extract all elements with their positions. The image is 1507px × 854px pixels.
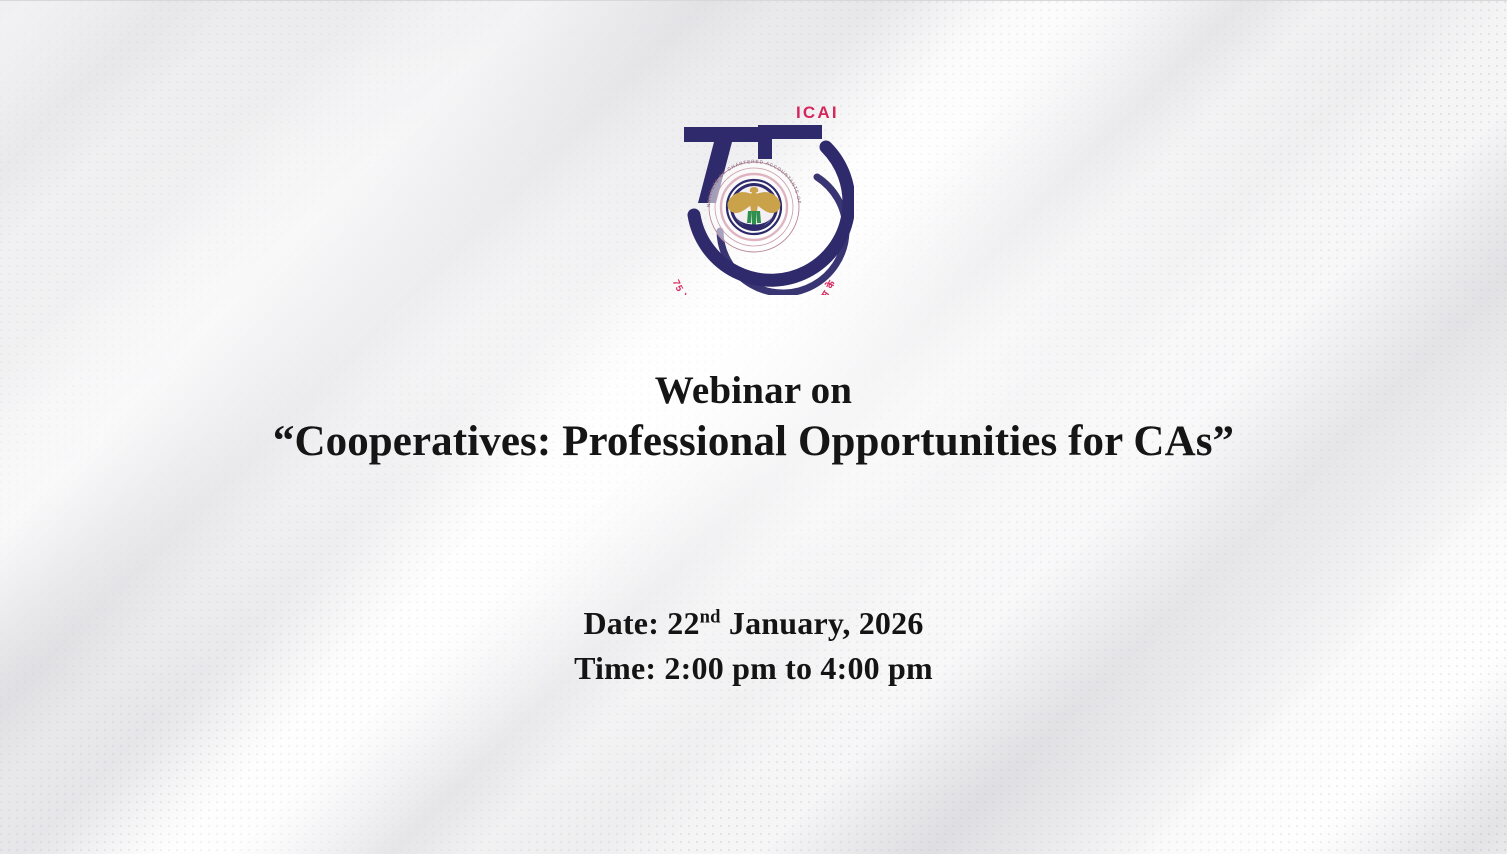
event-time: Time: 2:00 pm to 4:00 pm	[0, 646, 1507, 691]
event-date-ordinal: nd	[700, 606, 721, 627]
event-details-block: Date: 22nd January, 2026 Time: 2:00 pm t…	[0, 601, 1507, 692]
event-date: Date: 22nd January, 2026	[0, 601, 1507, 646]
title-block: Webinar on “Cooperatives: Professional O…	[0, 369, 1507, 467]
slide-content: ICAI THE INSTITUTE OF CHARTERED ACCOUNTA…	[0, 1, 1507, 854]
logo-acronym-text: ICAI	[796, 103, 839, 122]
event-date-label: Date:	[583, 605, 659, 641]
event-date-rest: January, 2026	[729, 605, 924, 641]
webinar-announcement-slide: ICAI THE INSTITUTE OF CHARTERED ACCOUNTA…	[0, 0, 1507, 854]
icai-75-years-logo-icon: ICAI THE INSTITUTE OF CHARTERED ACCOUNTA…	[654, 85, 854, 295]
webinar-heading: Webinar on	[0, 369, 1507, 413]
icai-seal: THE INSTITUTE OF CHARTERED ACCOUNTANTS O…	[654, 85, 802, 253]
logo-container: ICAI THE INSTITUTE OF CHARTERED ACCOUNTA…	[0, 85, 1507, 295]
event-date-day: 22	[667, 605, 699, 641]
webinar-topic: “Cooperatives: Professional Opportunitie…	[0, 417, 1507, 468]
